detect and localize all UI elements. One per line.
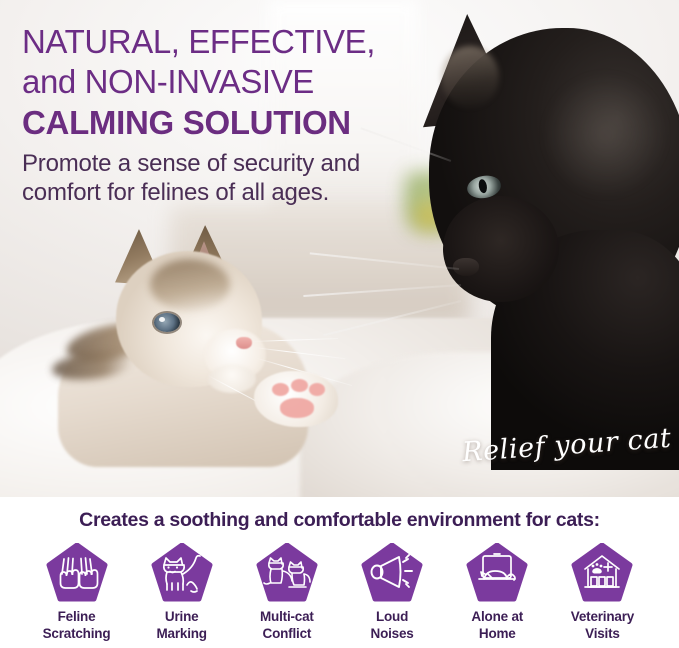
kitten-main-pad [280, 398, 314, 418]
kitten-toe-pad [272, 383, 289, 396]
benefit-icons-row: Feline Scratching [0, 532, 679, 642]
banner-title: Creates a soothing and comfortable envir… [0, 497, 679, 532]
cat-urine-marking-icon [151, 543, 213, 603]
benefit-label: Urine Marking [157, 609, 207, 642]
benefit-item-multi-cat-conflict: Multi-cat Conflict [236, 543, 337, 642]
kitten-forehead-markings [150, 259, 230, 311]
headline-line-1: NATURAL, EFFECTIVE, [22, 22, 452, 62]
black-cat-muzzle [443, 196, 559, 302]
benefit-item-urine-marking: Urine Marking [131, 543, 232, 642]
benefits-banner: Creates a soothing and comfortable envir… [0, 497, 679, 648]
veterinary-clinic-icon [571, 543, 633, 603]
benefit-label: Alone at Home [471, 609, 523, 642]
hero-photo: NATURAL, EFFECTIVE, and NON-INVASIVE CAL… [0, 0, 679, 497]
product-marketing-image: NATURAL, EFFECTIVE, and NON-INVASIVE CAL… [0, 0, 679, 648]
tabby-kitten [58, 225, 388, 475]
benefit-label: Veterinary Visits [571, 609, 634, 642]
benefit-item-feline-scratching: Feline Scratching [26, 543, 127, 642]
subhead-line-1: Promote a sense of security and [22, 149, 452, 178]
benefit-label: Loud Noises [371, 609, 414, 642]
headline-line-2: and NON-INVASIVE [22, 62, 452, 102]
two-cats-conflict-icon [256, 543, 318, 603]
headline-line-3: CALMING SOLUTION [22, 102, 452, 144]
subhead-line-2: comfort for felines of all ages. [22, 178, 452, 207]
black-cat-highlight [545, 70, 665, 200]
benefit-item-veterinary-visits: Veterinary Visits [552, 543, 653, 642]
cat-scratching-paws-icon [46, 543, 108, 603]
kitten-eye [154, 313, 180, 332]
benefit-label: Feline Scratching [43, 609, 111, 642]
kitten-toe-pad [309, 383, 325, 396]
benefit-item-loud-noises: Loud Noises [342, 543, 443, 642]
benefit-item-alone-at-home: Alone at Home [447, 543, 548, 642]
cat-alone-window-icon [466, 543, 528, 603]
kitten-toe-pad [291, 379, 308, 392]
loud-horn-icon [361, 543, 423, 603]
hero-text-block: NATURAL, EFFECTIVE, and NON-INVASIVE CAL… [22, 22, 452, 207]
kitten-nose [236, 337, 252, 349]
benefit-label: Multi-cat Conflict [260, 609, 314, 642]
